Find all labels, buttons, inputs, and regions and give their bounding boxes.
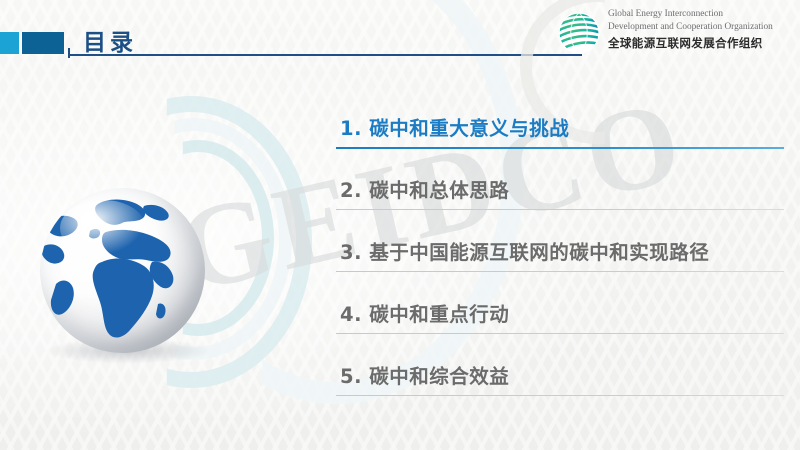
- agenda-item-3-label: 3. 基于中国能源互联网的碳中和实现路径: [340, 236, 709, 265]
- globe-stripes-logo-icon: [556, 10, 602, 56]
- agenda-item-2[interactable]: 2. 碳中和总体思路: [336, 154, 784, 216]
- agenda-item-5[interactable]: 5. 碳中和综合效益: [336, 340, 784, 402]
- agenda-item-5-underline: [336, 395, 784, 396]
- logo-text-block: Global Energy Interconnection Developmen…: [608, 8, 798, 51]
- logo-english-line-1: Global Energy Interconnection: [608, 8, 798, 21]
- agenda-item-1-underline: [336, 147, 784, 149]
- logo-chinese-name: 全球能源互联网发展合作组织: [608, 35, 798, 51]
- agenda-item-4-label: 4. 碳中和重点行动: [340, 298, 509, 327]
- agenda-item-4-underline: [336, 333, 784, 334]
- header-rule: [70, 54, 582, 56]
- earth-globe-illustration: [40, 188, 230, 378]
- agenda-item-2-label: 2. 碳中和总体思路: [340, 174, 509, 203]
- agenda-item-2-underline: [336, 209, 784, 210]
- page-title: 目录: [83, 23, 137, 57]
- agenda-item-1-label: 1. 碳中和重大意义与挑战: [340, 112, 569, 141]
- organization-logo: Global Energy Interconnection Developmen…: [556, 8, 794, 58]
- agenda-item-5-label: 5. 碳中和综合效益: [340, 360, 509, 389]
- agenda-item-3-underline: [336, 271, 784, 272]
- logo-english-line-2: Development and Cooperation Organization: [608, 21, 798, 34]
- earth-globe-icon: [40, 188, 205, 353]
- header-rule-tick: [68, 48, 70, 58]
- agenda-list: 1. 碳中和重大意义与挑战 2. 碳中和总体思路 3. 基于中国能源互联网的碳中…: [336, 92, 784, 402]
- agenda-item-3[interactable]: 3. 基于中国能源互联网的碳中和实现路径: [336, 216, 784, 278]
- agenda-item-4[interactable]: 4. 碳中和重点行动: [336, 278, 784, 340]
- header-accent-square-cyan: [0, 32, 19, 54]
- agenda-item-1[interactable]: 1. 碳中和重大意义与挑战: [336, 92, 784, 154]
- header-accent-square-blue: [22, 32, 64, 54]
- presentation-slide: GEIDCO 目录: [0, 0, 800, 450]
